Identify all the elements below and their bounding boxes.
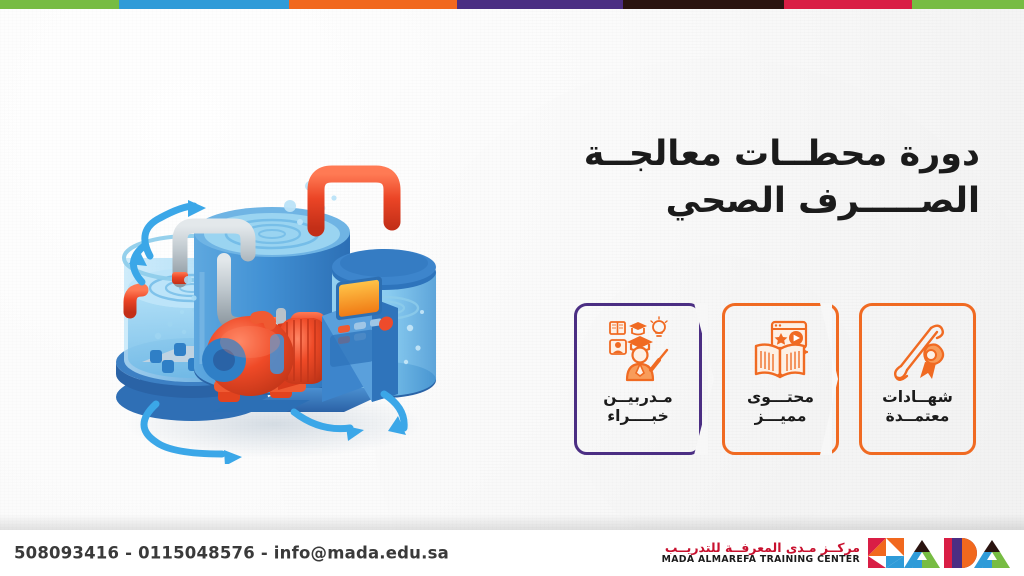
mada-logo-mark (866, 536, 1016, 570)
badge-label-line1: شهــادات (882, 388, 953, 407)
wastewater-treatment-illustration (84, 112, 456, 464)
brand-name-english: MADA ALMAREFA TRAINING CENTER (662, 555, 860, 565)
badge-label: شهــادات معتمــدة (876, 388, 959, 426)
badge-content[interactable]: محتـــوى مميـــز (722, 303, 839, 455)
badge-label-line2: مميـــز (747, 407, 814, 426)
title-line-2: الصـــــرف الصحي (560, 178, 980, 225)
badge-label-line1: مـدربيــن (603, 388, 672, 407)
badge-label-line2: معتمــدة (882, 407, 953, 426)
brand-name-arabic: مركــز مـدى المعرفــة للتدريــب (662, 541, 860, 555)
badge-trainers[interactable]: مـدربيــن خبــــراء (574, 303, 702, 455)
footer-contact-text[interactable]: 508093416 - 0115048576 - info@mada.edu.s… (14, 544, 449, 563)
top-color-bar (0, 0, 1024, 9)
topbar-segment-green-0 (0, 0, 119, 9)
footer-bar: 508093416 - 0115048576 - info@mada.edu.s… (0, 530, 1024, 576)
brand-logo: مركــز مـدى المعرفــة للتدريــب MADA ALM… (662, 536, 1016, 570)
feature-badges: شهــادات معتمــدة (574, 303, 976, 455)
topbar-segment-blue-1 (119, 0, 289, 9)
topbar-segment-brown-4 (623, 0, 785, 9)
topbar-segment-orange-2 (289, 0, 457, 9)
badge-label: مـدربيــن خبــــراء (597, 388, 678, 426)
badge-label-line2: خبــــراء (603, 407, 672, 426)
open-book-media-icon (750, 316, 812, 382)
instructor-teacher-icon (607, 316, 669, 382)
badge-label: محتـــوى مميـــز (741, 388, 820, 426)
title-line-1: دورة محطــات معالجــة (560, 131, 980, 178)
footer-shadow (0, 514, 1024, 530)
topbar-segment-purple-3 (457, 0, 623, 9)
topbar-segment-crimson-5 (784, 0, 912, 9)
diploma-certificate-icon (887, 316, 949, 382)
brand-logo-text: مركــز مـدى المعرفــة للتدريــب MADA ALM… (662, 541, 860, 565)
topbar-segment-green-6 (912, 0, 1024, 9)
poster-canvas: دورة محطــات معالجــة الصـــــرف الصحي (0, 0, 1024, 576)
badge-certificates[interactable]: شهــادات معتمــدة (859, 303, 976, 455)
badge-label-line1: محتـــوى (747, 388, 814, 407)
course-title: دورة محطــات معالجــة الصـــــرف الصحي (560, 131, 980, 224)
